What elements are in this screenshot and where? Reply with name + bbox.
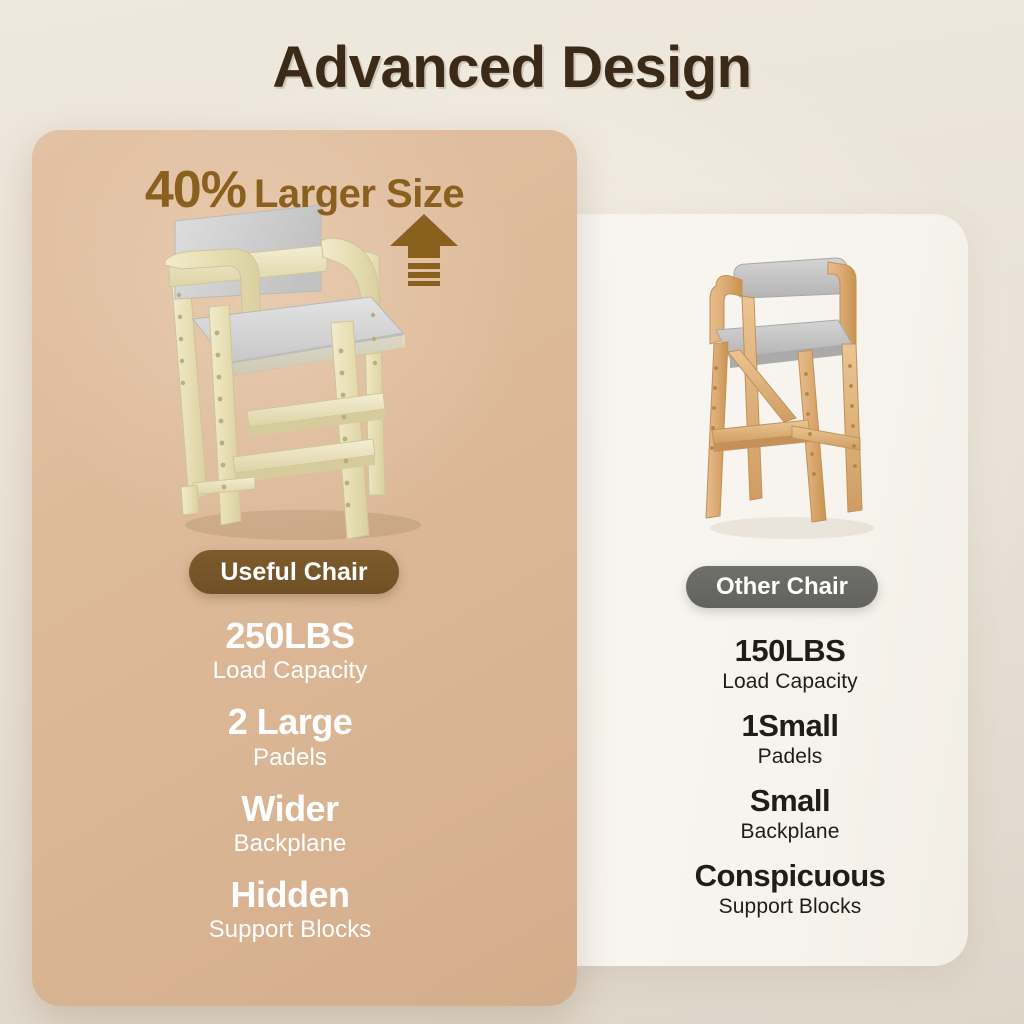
page-title: Advanced Design xyxy=(0,34,1024,101)
feature-item: 150LBS Load Capacity xyxy=(600,634,980,709)
feature-value: 1Small xyxy=(600,709,980,744)
feature-label: Padels xyxy=(600,744,980,770)
feature-item: Hidden Support Blocks xyxy=(90,875,490,961)
other-chair-feature-list: 150LBS Load Capacity 1Small Padels Small… xyxy=(600,634,980,934)
feature-label: Support Blocks xyxy=(600,894,980,920)
other-chair-badge[interactable]: Other Chair xyxy=(686,566,878,608)
other-chair-image xyxy=(680,248,895,540)
feature-value: Wider xyxy=(90,789,490,829)
feature-item: Small Backplane xyxy=(600,784,980,859)
feature-label: Support Blocks xyxy=(90,915,490,945)
feature-value: 150LBS xyxy=(600,634,980,669)
larger-size-percent: 40% xyxy=(145,161,246,219)
infographic-stage: Advanced Design 40%Larger Size xyxy=(0,0,1024,1024)
useful-chair-badge[interactable]: Useful Chair xyxy=(189,550,399,594)
up-arrow-growth-icon xyxy=(388,212,460,286)
useful-chair-feature-list: 250LBS Load Capacity 2 Large Padels Wide… xyxy=(90,616,490,961)
feature-label: Backplane xyxy=(90,829,490,859)
feature-label: Load Capacity xyxy=(600,669,980,695)
feature-item: 250LBS Load Capacity xyxy=(90,616,490,702)
larger-size-text: Larger Size xyxy=(254,172,464,216)
feature-label: Load Capacity xyxy=(90,656,490,686)
feature-item: Conspicuous Support Blocks xyxy=(600,859,980,934)
feature-item: Wider Backplane xyxy=(90,789,490,875)
feature-value: Small xyxy=(600,784,980,819)
larger-size-headline: 40%Larger Size xyxy=(32,160,577,220)
feature-item: 1Small Padels xyxy=(600,709,980,784)
feature-value: Conspicuous xyxy=(600,859,980,894)
feature-label: Padels xyxy=(90,743,490,773)
feature-label: Backplane xyxy=(600,819,980,845)
feature-value: 250LBS xyxy=(90,616,490,656)
feature-item: 2 Large Padels xyxy=(90,702,490,788)
feature-value: Hidden xyxy=(90,875,490,915)
feature-value: 2 Large xyxy=(90,702,490,742)
